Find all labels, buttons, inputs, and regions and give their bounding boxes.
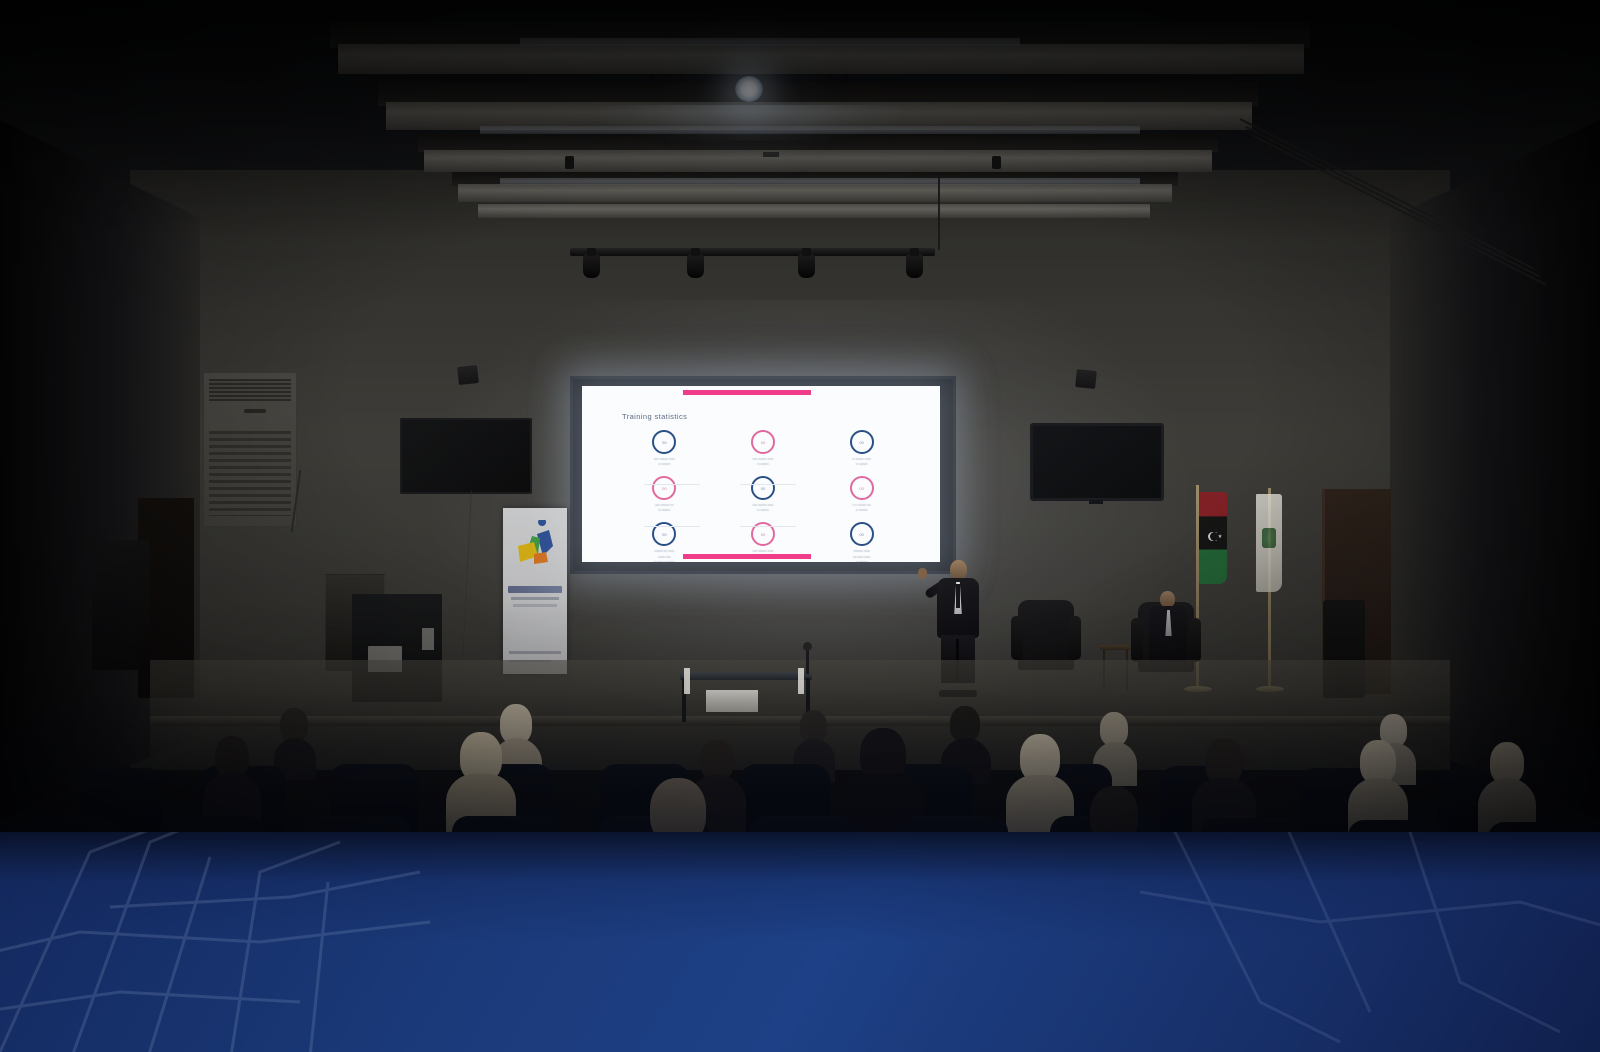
floor-speaker-left	[92, 540, 150, 670]
stat-ring-blue: 00	[751, 476, 775, 500]
slide-accent-bar-top	[683, 390, 811, 395]
ceiling-light-icon	[735, 76, 763, 102]
slide-title: Training statistics	[622, 412, 687, 421]
stat-caption: •• ••••••• ••••••• •••••••	[852, 457, 871, 467]
wall-speaker-right	[1075, 369, 1097, 389]
stat-ring-blue: 00	[850, 430, 874, 454]
libya-flag	[1199, 492, 1227, 584]
stat-caption: •••• ••••••• ••••••• •••••••	[654, 457, 675, 467]
stat-ring-blue: 00	[850, 522, 874, 546]
university-footer-banner: جامعة طرابلس UNIVERSITY OF TRIPOLI SINCE…	[0, 832, 1600, 1052]
statistics-grid: 00•••• ••••••• ••••••• ••••••• 00•••• ••…	[618, 430, 908, 562]
stat-cell: 00• •• ••••••• ••••• •••••••	[815, 476, 908, 513]
footer-watermark-right	[1140, 832, 1600, 1052]
projection-screen: Training statistics 00•••• ••••••• •••••…	[570, 376, 956, 574]
stat-ring-pink: 00	[652, 476, 676, 500]
wall-speaker-left	[457, 365, 479, 385]
screenshot-root: Training statistics 00•••• ••••••• •••••…	[0, 0, 1600, 1052]
stat-cell: 00•••• ••••••• ••••••• •••••••	[618, 430, 711, 467]
track-spotlight	[583, 254, 600, 278]
stat-ring-pink: 00	[850, 476, 874, 500]
ceiling-light-spill	[600, 105, 900, 141]
stat-ring-pink: 00	[751, 430, 775, 454]
table-microphone	[806, 648, 809, 674]
roll-up-banner	[503, 508, 567, 674]
stat-caption: •••• ••••••• ••••••• •••••••	[753, 503, 774, 513]
stat-cell: 00•••• ••••••• ••••••• •••••••	[717, 430, 810, 467]
stat-cell: 00•••••••• •••••••• ••••• ••••••• ••••••…	[815, 522, 908, 562]
banner-logo-icon	[512, 520, 558, 578]
stat-cell: 00•••• ••••••• ••••• •••••••	[618, 476, 711, 513]
wall-television-right	[1030, 423, 1164, 501]
lighting-track-rail	[570, 248, 935, 256]
track-spotlight	[798, 254, 815, 278]
air-conditioner	[203, 372, 297, 527]
stat-caption: • •• ••••••• ••••• •••••••	[853, 503, 871, 513]
projector-hanging-wire	[938, 178, 940, 250]
projected-slide: Training statistics 00•••• ••••••• •••••…	[582, 386, 940, 562]
auditorium-photo: Training statistics 00•••• ••••••• •••••…	[0, 0, 1600, 880]
slide-accent-bar-bottom	[683, 554, 811, 559]
wall-television-left	[400, 418, 532, 494]
track-spotlight	[687, 254, 704, 278]
stat-caption: •••• ••••••• ••••••• •••••••	[753, 457, 774, 467]
stat-caption: ••••••• ••• ••••••••••• •••••• ••••• •• …	[654, 549, 675, 562]
footer-watermark-left	[0, 832, 520, 1052]
track-spotlight	[906, 254, 923, 278]
stat-caption: •••••••• •••••••• ••••• ••••••• •••••••	[853, 549, 870, 562]
stat-caption: •••• ••••••• ••••• •••••••	[655, 503, 674, 513]
stat-cell: 00•• ••••••• ••••••• •••••••	[815, 430, 908, 467]
seated-guest	[1146, 591, 1190, 663]
stat-ring-blue: 00	[652, 430, 676, 454]
stat-cell: 00•••• ••••••• ••••••• •••••••	[717, 476, 810, 513]
university-flag	[1256, 494, 1282, 592]
